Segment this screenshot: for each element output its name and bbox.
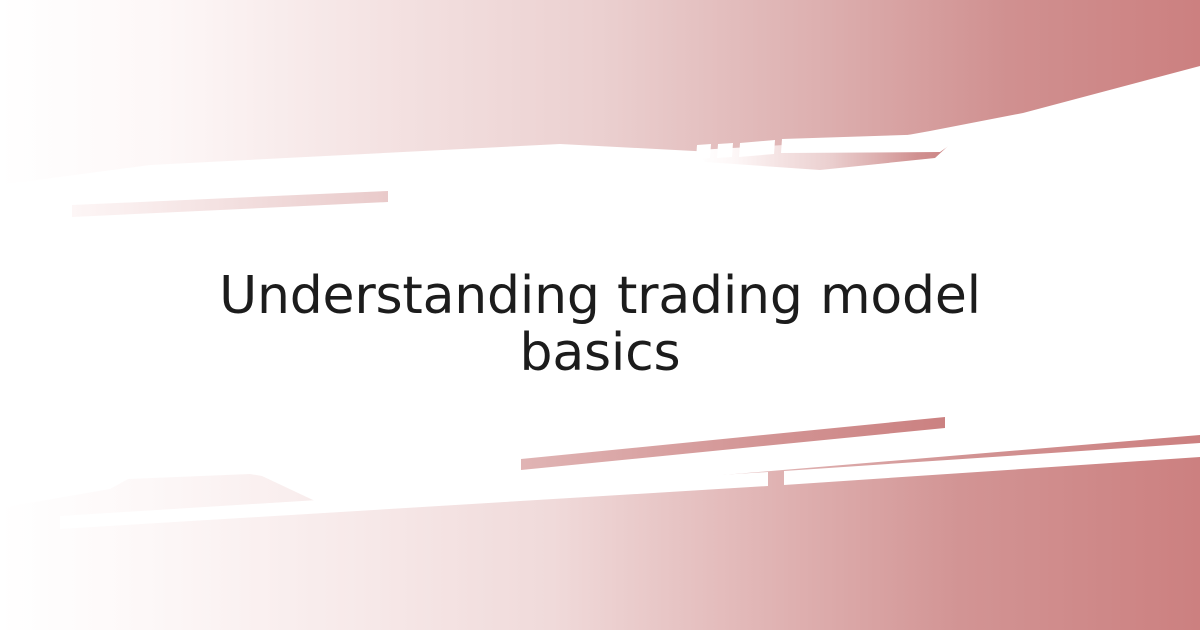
- bottom-shape-group: [0, 417, 1200, 630]
- top-gradient-band-group: [0, 0, 1200, 185]
- dash-mark-2: [717, 143, 733, 158]
- page-title: Understanding trading model basics: [0, 268, 1200, 382]
- page-title-text: Understanding trading model basics: [160, 268, 1040, 382]
- top-gradient-band: [0, 0, 1200, 185]
- dash-mark-1: [696, 144, 711, 159]
- hero-banner: Understanding trading model basics: [0, 0, 1200, 630]
- upper-left-thin-stripe: [72, 191, 388, 217]
